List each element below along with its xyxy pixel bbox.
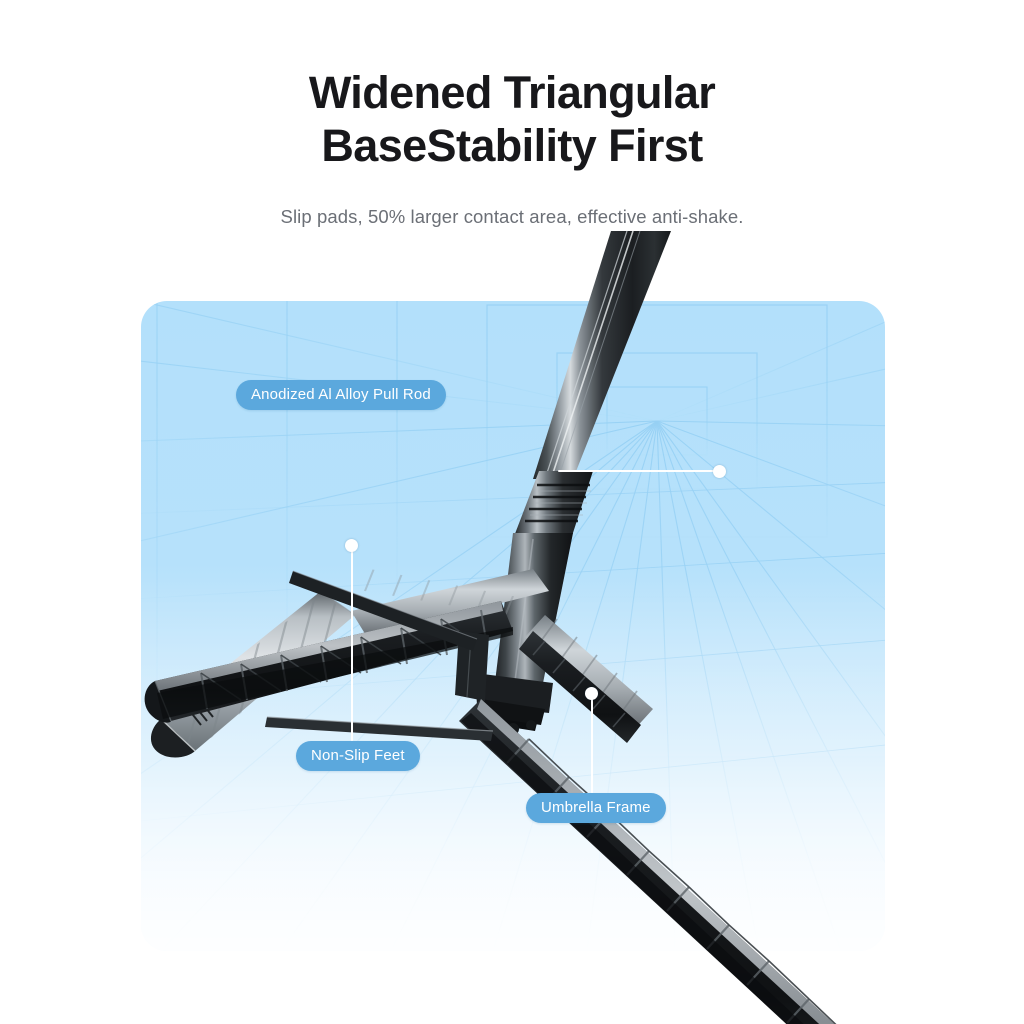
cross-brace	[265, 717, 493, 741]
callout-anchor-dot	[345, 539, 358, 552]
leader-line-horizontal	[558, 470, 718, 472]
callout-non-slip-feet[interactable]: Non-Slip Feet	[296, 741, 420, 771]
leg-dark-lower-right	[459, 699, 893, 1024]
callout-non-slip-feet-label[interactable]: Non-Slip Feet	[296, 741, 420, 771]
callout-anchor-dot	[713, 465, 726, 478]
page-title: Widened Triangular BaseStability First	[0, 0, 1024, 172]
page-subtitle: Slip pads, 50% larger contact area, effe…	[0, 172, 1024, 228]
locking-collar	[513, 471, 593, 539]
callout-umbrella-frame[interactable]: Umbrella Frame	[526, 793, 666, 823]
headline-line-2: BaseStability First	[0, 119, 1024, 172]
leader-line-vertical	[591, 693, 593, 793]
header: Widened Triangular BaseStability First S…	[0, 0, 1024, 228]
product-showcase-panel: Anodized Al Alloy Pull Rod Non-Slip Feet…	[141, 301, 885, 951]
callout-pull-rod[interactable]: Anodized Al Alloy Pull Rod	[236, 380, 446, 410]
headline-line-1: Widened Triangular	[0, 66, 1024, 119]
leader-line-vertical	[351, 545, 353, 741]
callout-pull-rod-label[interactable]: Anodized Al Alloy Pull Rod	[236, 380, 446, 410]
callout-anchor-dot	[585, 687, 598, 700]
callout-umbrella-frame-label[interactable]: Umbrella Frame	[526, 793, 666, 823]
